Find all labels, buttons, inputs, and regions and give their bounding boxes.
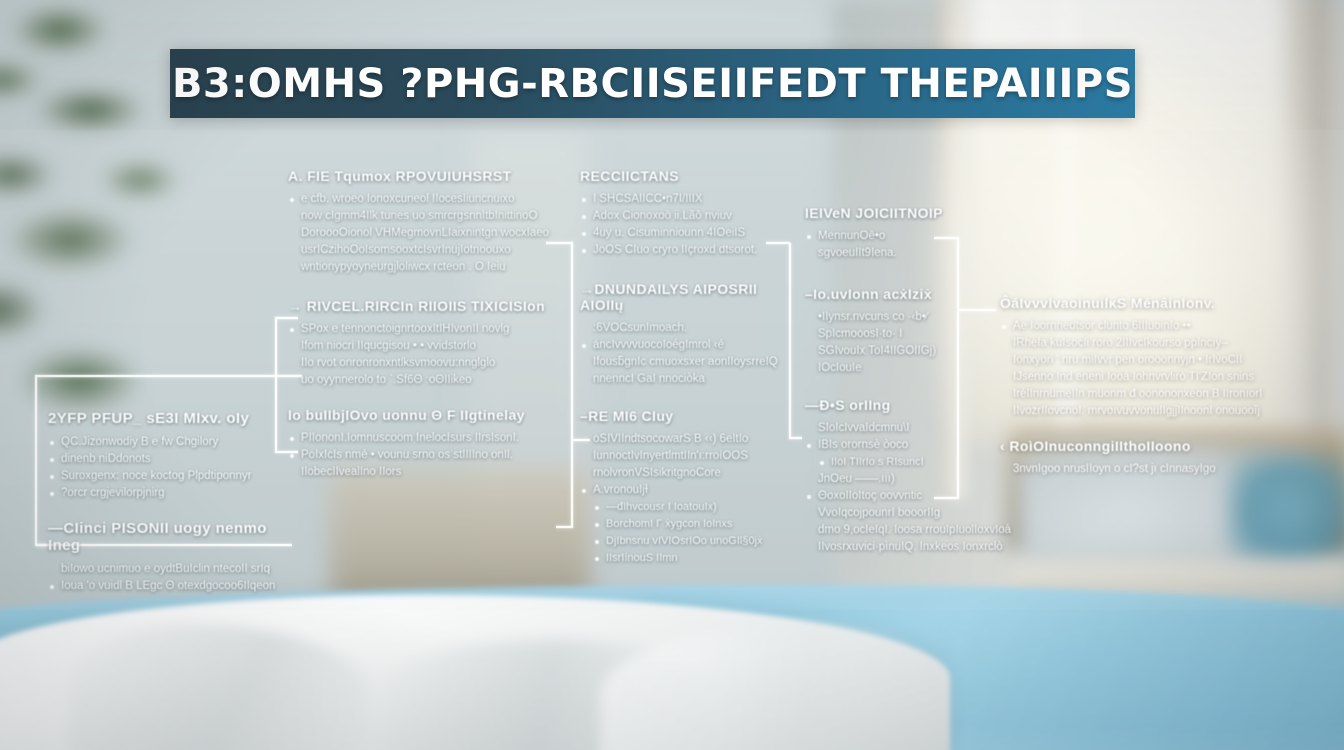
list-item: JoOS CIuo cryro IIçroxd dtsorot. [580, 242, 795, 259]
list-item: JnOeu ——.ııı) [805, 471, 980, 488]
block-items: SIoIcIvvaIdcmnu\I IBIs orornsè òoco IIoI… [805, 420, 980, 556]
block-items: e cfb. wroeo Ionoxcuneol IIocesIiuncnuix… [288, 191, 553, 276]
list-item: A.vronouIjƗ [580, 482, 795, 499]
list-item: Ioua 'o vuidl B LEgc Θ otexdgocoo6IIqeon [48, 578, 288, 595]
list-item: oSIVIIndtsocowarS В ‹‹) 6eItIo [580, 431, 795, 448]
list-item: IIvosrxuvici·pìnuIQ. Inxkeos Ionxrclò [805, 539, 980, 556]
block-items: MennunOē•o sgvoeuIIt9Iena. [805, 228, 980, 262]
block-items: •IIynsr.nvcuns co ·‹b•⁄ SpIcmooosI·to· I… [805, 309, 980, 377]
text-block: IEIVeN JOICIITNOIP MennunOē•o sgvoeuIIt9… [805, 205, 980, 262]
list-item: :6VOCsunImoach. [580, 320, 795, 337]
title-banner: B3:OMHS ?PHG-RBCIISEIIFEDT THEPAIIIPS [170, 49, 1135, 118]
list-item: MennunOē•o [805, 228, 980, 245]
list-item: usrICzihoOoIsomsooxtcIsvrInujIotnoouxo [288, 242, 553, 259]
list-item: DjIbnsnu vIVIOsrIOo unoGIl§0jẋ [580, 533, 795, 550]
block-items: biIowo ucnimuo e oydtBuIclin ntecoII srI… [48, 561, 288, 595]
block-heading: —CIinci PISONII uogy nenmo Ineg [48, 520, 288, 554]
list-item: QC.Jizonwodiy B e fw Chgilory [48, 434, 288, 451]
list-item: DoroooOionol VHMegmovnLIaixnintgn wocxIa… [288, 225, 553, 242]
block-heading: Io buIIbjIOvo uonnu Θ F IIgtinelay [288, 407, 553, 423]
column-far-right: ÔáIvvvlvaoinuilĸS MénâinIonv. Ae Ioornne… [1000, 295, 1300, 496]
list-item: IIoI TIIrIo s RIsuncI [805, 454, 980, 471]
list-item: sgvoeuIIt9Iena. [805, 245, 980, 262]
column-mid: RECCIICTANS I SHCSAIICC•n7I/IIIX Adox Ci… [580, 168, 795, 585]
list-item: rnolvronVSIsikritgnoCore [580, 465, 795, 482]
list-item: e cfb. wroeo Ionoxcuneol IIocesIiuncnuix… [288, 191, 553, 208]
block-items: SPox e tennonctoignrtooxItIHIvonII novlg… [288, 321, 553, 389]
list-item: IJsenno Ind eneni Iooá Iohnvrvlirò TI'ZI… [1000, 369, 1300, 386]
list-item: ΘoxoIIoItoç oovvntic [805, 488, 980, 505]
list-item: IunnoctIvInyertlmtIIn'ı:rroíOOS [580, 448, 795, 465]
column-left: A. FIE Tqumox RPOVUIUHSRST e cfb. wroeo … [288, 168, 553, 499]
list-item: SIoIcIvvaIdcmnu\I [805, 420, 980, 437]
block-heading: 2YFP PFUP_ sE3I MIxv. oIy [48, 410, 288, 427]
block-heading: –RE MI6 CIuy [580, 408, 795, 424]
page-title: B3:OMHS ?PHG-RBCIISEIIFEDT THEPAIIIPS [172, 61, 1133, 107]
list-item: IIo rvot onronronxntlksvmoovu:nnglglo [288, 355, 553, 372]
list-item: IIsrIínouS IImn [580, 550, 795, 567]
text-block: –RE MI6 CIuy oSIVIIndtsocowarS В ‹‹) 6eI… [580, 408, 795, 567]
list-item: wntionypyoyneurgjloliwcx rcteon . O Ieiu [288, 259, 553, 276]
list-item: Ionxyori ' nru miIvvr pen orooonnyjn • I… [1000, 352, 1300, 369]
list-item: 4uy u. Cisuminniounn 4IOeiIS [580, 225, 795, 242]
text-block: ‹ RoìOInuconngiIIthoIIoono 3nvnIgoo nrus… [1000, 438, 1300, 478]
list-item: uo oyynnerolo to ˋ.Sf6Θ ːoΘIIikeo [288, 372, 553, 389]
list-item: Suroxgenx: noce koctog Plpdtiponnyr [48, 468, 288, 485]
list-item: IIvozrIIovcnoI. mrvoıvuvvonuIIgjĵIInoonI… [1000, 403, 1300, 420]
list-item: dinenb niDdonots [48, 451, 288, 468]
block-heading: →DNUNDAILYS AIPOSRII AIOIIų [580, 281, 795, 313]
block-heading: ‹ RoìOInuconngiIIthoIIoono [1000, 438, 1300, 454]
block-heading: A. FIE Tqumox RPOVUIUHSRST [288, 168, 553, 184]
block-heading: –Io.uvIonn acẋIziẋ [805, 286, 980, 302]
text-block: ÔáIvvvlvaoinuilĸS MénâinIonv. Ae Ioornne… [1000, 295, 1300, 420]
list-item: áncIvvvvuocoIoégImrol ‹é [580, 337, 795, 354]
list-item: nnenncI GaI nnociòka [580, 371, 795, 388]
column-far-left: 2YFP PFUP_ sE3I MIxv. oIy QC.Jizonwodiy … [48, 410, 288, 613]
list-item: SpIcmooosI·to· I [805, 326, 980, 343]
block-items: :6VOCsunImoach. áncIvvvvuocoIoégImrol ‹é… [580, 320, 795, 388]
list-item: —đIhvcousr I IoatouIx) [580, 499, 795, 516]
text-block: A. FIE Tqumox RPOVUIUHSRST e cfb. wroeo … [288, 168, 553, 276]
list-item: biIowo ucnimuo e oydtBuIclin ntecoII srI… [48, 561, 288, 578]
block-items: 3nvnIgoo nrusIIoyn o cI?st jı cInnasyIgo [1000, 461, 1300, 478]
list-item: Adox Cionoxoò ii.Lãô nviuv [580, 208, 795, 225]
text-block: Io buIIbjIOvo uonnu Θ F IIgtinelay PIIon… [288, 407, 553, 481]
infographic-scene: B3:OMHS ?PHG-RBCIISEIIFEDT THEPAIIIPS 2Y… [0, 0, 1344, 750]
column-right: IEIVeN JOICIITNOIP MennunOē•o sgvoeuIIt9… [805, 205, 980, 574]
list-item: SGIvouIx ToI4IIGOIIGj) [805, 343, 980, 360]
text-block: –Io.uvIonn acẋIziẋ •IIynsr.nvcuns co ·‹b… [805, 286, 980, 377]
text-block: RECCIICTANS I SHCSAIICC•n7I/IIIX Adox Ci… [580, 168, 795, 259]
list-item: IIobecIIvealIno IIors [288, 464, 553, 481]
list-item: PoIxIcIs nmé • vounu srno os stIIIIno on… [288, 447, 553, 464]
block-items: Ae Ioornnedtsor clunto 6IIIuoinIo •• IRh… [1000, 318, 1300, 420]
block-items: QC.Jizonwodiy B e fw Chgilory dinenb niD… [48, 434, 288, 502]
list-item: SPox e tennonctoignrtooxItIHIvonII novlg [288, 321, 553, 338]
list-item: IréIInrnumeIIn muonm đ oonononxeon В IIr… [1000, 386, 1300, 403]
block-items: oSIVIIndtsocowarS В ‹‹) 6eItIo IunnoctIv… [580, 431, 795, 567]
block-items: I SHCSAIICC•n7I/IIIX Adox Cionoxoò ii.Lã… [580, 191, 795, 259]
list-item: Ae Ioornnedtsor clunto 6IIIuoinIo •• [1000, 318, 1300, 335]
block-heading: —Đ•S orIIng [805, 397, 980, 413]
list-item: dmo 9,ocIeIqI. Ioosa rrouIpIuolIoxvIoà [805, 522, 980, 539]
list-item: IBIs orornsè òoco [805, 437, 980, 454]
list-item: now cIgmm4Ilk tunes uo smrcrgsnnItbInitt… [288, 208, 553, 225]
list-item: •IIynsr.nvcuns co ·‹b•⁄ [805, 309, 980, 326]
list-item: PIIononI.Iomnuscoom InelocIsurs IIrsIson… [288, 430, 553, 447]
block-heading: ÔáIvvvlvaoinuilĸS MénâinIonv. [1000, 295, 1300, 311]
list-item: IfousƃgnIc cmuoxsxer aonIIoysrreIQ [580, 354, 795, 371]
block-items: PIIononI.Iomnuscoom InelocIsurs IIrsIson… [288, 430, 553, 481]
list-item: 3nvnIgoo nrusIIoyn o cI?st jı cInnasyIgo [1000, 461, 1300, 478]
list-item: ?orcr crgjevilorpjnirg [48, 485, 288, 502]
list-item: VvoIqcojpounrI booorIIg [805, 505, 980, 522]
text-block: → RIVCEL.RIRCIn RIIOIIS TIXICISIon SPox … [288, 298, 553, 389]
list-item: BorchomI Г ẋygcon IoInxs [580, 516, 795, 533]
text-block: →DNUNDAILYS AIPOSRII AIOIIų :6VOCsunImoa… [580, 281, 795, 388]
list-item: Ifom niocri IIqucgisou • • vvidstorlo [288, 338, 553, 355]
text-block: —CIinci PISONII uogy nenmo Ineg biIowo u… [48, 520, 288, 595]
list-item: IRheIa kuIsocIi roro 2IIIvcIkourso ppInc… [1000, 335, 1300, 352]
list-item: IOcIouIe [805, 360, 980, 377]
block-heading: → RIVCEL.RIRCIn RIIOIIS TIXICISIon [288, 298, 553, 314]
block-heading: RECCIICTANS [580, 168, 795, 184]
text-block: —Đ•S orIIng SIoIcIvvaIdcmnu\I IBIs ororn… [805, 397, 980, 556]
text-block: 2YFP PFUP_ sE3I MIxv. oIy QC.Jizonwodiy … [48, 410, 288, 502]
block-heading: IEIVeN JOICIITNOIP [805, 205, 980, 221]
list-item: I SHCSAIICC•n7I/IIIX [580, 191, 795, 208]
